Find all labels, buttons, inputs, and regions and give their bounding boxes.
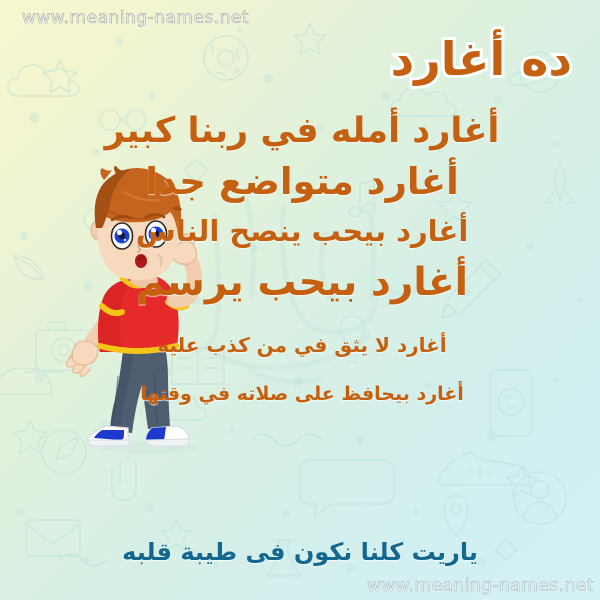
footer-wish-text: ياريت كلنا نكون فى طيبة قلبه: [0, 538, 600, 566]
trait-line-4: أغارد بيحب يرسم: [22, 259, 582, 307]
trait-line-3: أغارد بيحب ينصح الناس: [22, 214, 582, 249]
trait-line-2: أغارد متواضع جدا: [22, 159, 582, 204]
page-title: ده أغارد: [391, 36, 572, 82]
trait-line-5: أغارد لا يثق في من كذب عليه: [22, 333, 582, 357]
watermark-bottom-right: www.meaning-names.net: [367, 576, 594, 596]
trait-line-6: أغارد بيحافظ على صلاته في وقتها: [22, 383, 582, 406]
watermark-top-left: www.meaning-names.net: [22, 8, 249, 28]
name-meaning-card: www.meaning-names.net www.meaning-names.…: [0, 0, 600, 600]
trait-lines-list: أغارد أمله في ربنا كبير أغارد متواضع جدا…: [22, 110, 582, 406]
trait-line-1: أغارد أمله في ربنا كبير: [22, 110, 582, 153]
